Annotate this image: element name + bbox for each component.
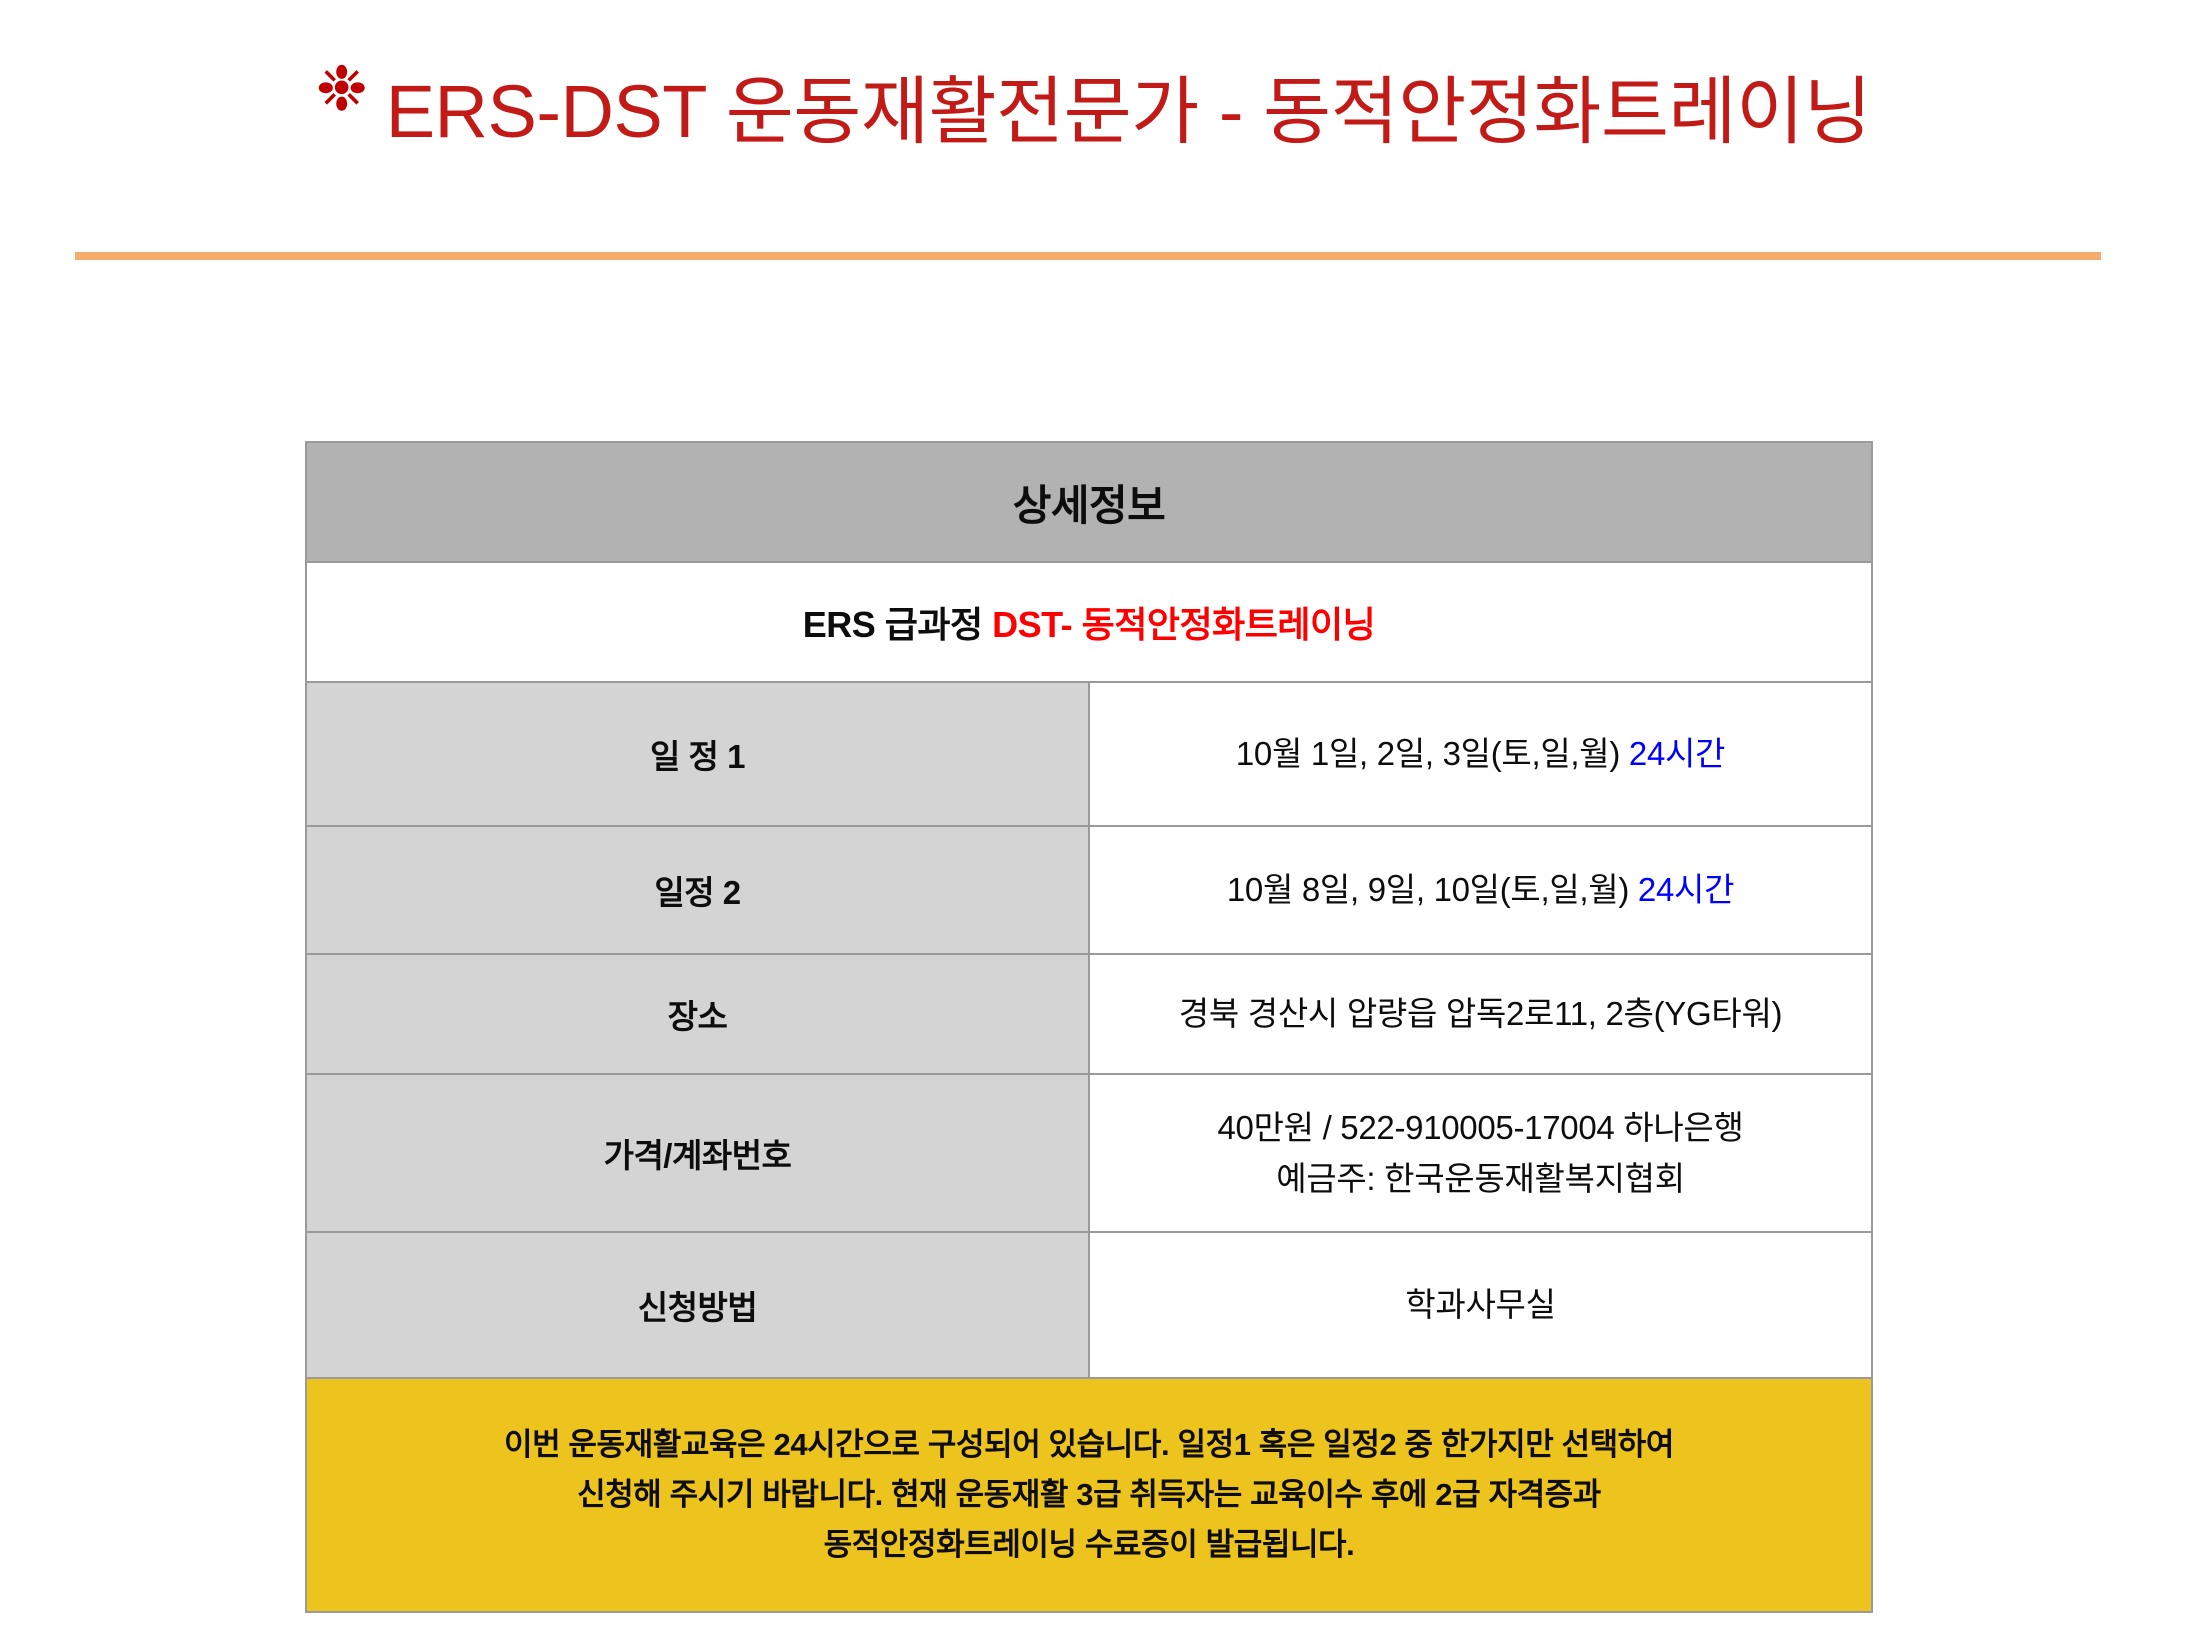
table-subtitle-row: ERS 급과정 DST- 동적안정화트레이닝 xyxy=(306,562,1872,682)
table-row: 일정 2 10월 8일, 9일, 10일(토,일,월) 24시간 xyxy=(306,826,1872,954)
schedule-1-dates: 10월 1일, 2일, 3일(토,일,월) xyxy=(1236,735,1629,772)
title-divider xyxy=(75,252,2101,260)
notice-line-2: 신청해 주시기 바랍니다. 현재 운동재활 3급 취득자는 교육이수 후에 2급… xyxy=(307,1470,1871,1520)
price-account-line-2: 예금주: 한국운동재활복지협회 xyxy=(1090,1153,1871,1204)
schedule-2-dates: 10월 8일, 9일, 10일(토,일,월) xyxy=(1227,871,1638,908)
course-subtitle-cell: ERS 급과정 DST- 동적안정화트레이닝 xyxy=(306,562,1872,682)
table-row: 일 정 1 10월 1일, 2일, 3일(토,일,월) 24시간 xyxy=(306,682,1872,826)
table-row: 가격/계좌번호 40만원 / 522-910005-17004 하나은행 예금주… xyxy=(306,1074,1872,1232)
price-account-line-1: 40만원 / 522-910005-17004 하나은행 xyxy=(1090,1102,1871,1153)
notice-row: 이번 운동재활교육은 24시간으로 구성되어 있습니다. 일정1 혹은 일정2 … xyxy=(306,1378,1872,1612)
course-subtitle-plain: ERS 급과정 xyxy=(803,604,992,645)
row-value-schedule-1: 10월 1일, 2일, 3일(토,일,월) 24시간 xyxy=(1089,682,1872,826)
row-label-schedule-1: 일 정 1 xyxy=(306,682,1089,826)
page-title: ❉ERS-DST 운동재활전문가 - 동적안정화트레이닝 xyxy=(0,58,2187,153)
table-header-cell: 상세정보 xyxy=(306,442,1872,562)
row-label-application-method: 신청방법 xyxy=(306,1232,1089,1378)
row-value-application-method: 학과사무실 xyxy=(1089,1232,1872,1378)
row-value-price-account: 40만원 / 522-910005-17004 하나은행 예금주: 한국운동재활… xyxy=(1089,1074,1872,1232)
course-details-table: 상세정보 ERS 급과정 DST- 동적안정화트레이닝 일 정 1 10월 1일… xyxy=(305,441,1873,1613)
schedule-2-hours: 24시간 xyxy=(1638,871,1734,908)
row-value-schedule-2: 10월 8일, 9일, 10일(토,일,월) 24시간 xyxy=(1089,826,1872,954)
notice-line-3: 동적안정화트레이닝 수료증이 발급됩니다. xyxy=(307,1520,1871,1570)
table-row: 장소 경북 경산시 압량읍 압독2로11, 2층(YG타워) xyxy=(306,954,1872,1074)
page-title-text: ERS-DST 운동재활전문가 - 동적안정화트레이닝 xyxy=(386,71,1872,152)
notice-line-1: 이번 운동재활교육은 24시간으로 구성되어 있습니다. 일정1 혹은 일정2 … xyxy=(307,1420,1871,1470)
schedule-1-hours: 24시간 xyxy=(1629,735,1725,772)
row-value-location: 경북 경산시 압량읍 압독2로11, 2층(YG타워) xyxy=(1089,954,1872,1074)
clover-flower-icon: ❉ xyxy=(316,58,368,120)
course-subtitle-accent: DST- 동적안정화트레이닝 xyxy=(992,604,1375,645)
notice-banner: 이번 운동재활교육은 24시간으로 구성되어 있습니다. 일정1 혹은 일정2 … xyxy=(306,1378,1872,1612)
row-label-price-account: 가격/계좌번호 xyxy=(306,1074,1089,1232)
row-label-location: 장소 xyxy=(306,954,1089,1074)
row-label-schedule-2: 일정 2 xyxy=(306,826,1089,954)
table-row: 신청방법 학과사무실 xyxy=(306,1232,1872,1378)
table-header-row: 상세정보 xyxy=(306,442,1872,562)
